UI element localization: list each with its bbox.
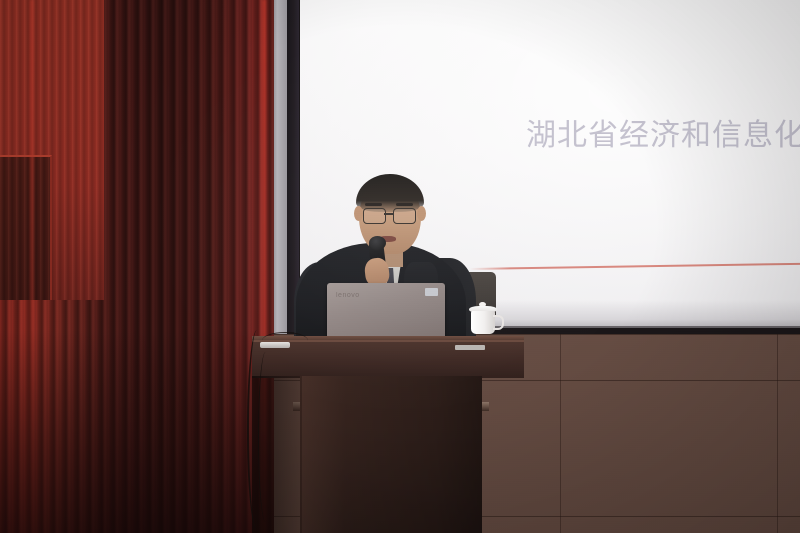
teacup-handle (493, 315, 504, 330)
eyeglasses-right-lens (393, 208, 416, 224)
speaker-right-ear (417, 206, 426, 221)
microphone-head (369, 236, 386, 250)
speaker-left-eyebrow (365, 203, 382, 206)
speaker-right-eyebrow (396, 203, 413, 206)
podium-desk-remote (455, 345, 485, 350)
laptop-brand-label: lenovo (336, 292, 360, 299)
presentation-photo-scene: 湖北省经济和信息化 lenovo (0, 0, 800, 533)
curtain-bottom-shadow (0, 330, 274, 533)
slide-title-text: 湖北省经济和信息化 (526, 118, 800, 153)
teacup-body (471, 311, 495, 334)
eyeglasses-left-lens (363, 208, 386, 224)
eyeglasses-bridge (384, 213, 393, 215)
laptop-sticker-badge (425, 288, 438, 296)
speaker-left-ear (354, 206, 363, 221)
screen-left-light-band (272, 0, 287, 334)
desk-cable-loop (262, 332, 308, 349)
power-cable (258, 352, 273, 522)
podium-front-shading (300, 376, 482, 533)
curtain-inset-panel (0, 155, 52, 300)
